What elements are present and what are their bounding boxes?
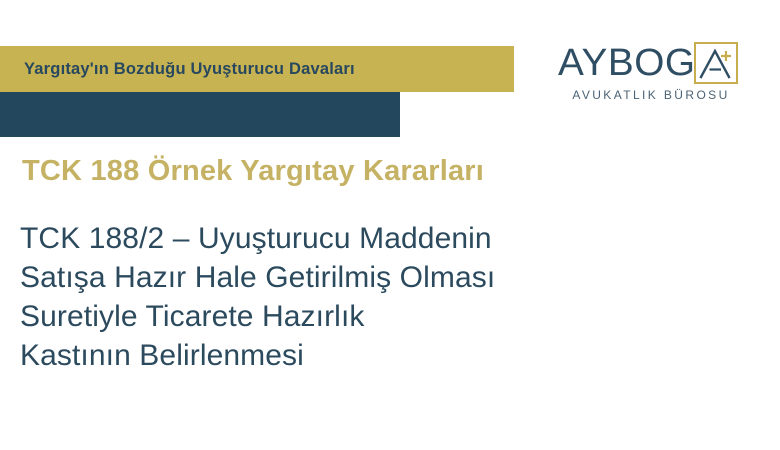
body-line: Suretiyle Ticarete Hazırlık <box>20 297 640 336</box>
logo-subtitle: AVUKATLIK BÜROSU <box>558 88 744 102</box>
body-line: TCK 188/2 – Uyuşturucu Maddenin <box>20 219 640 258</box>
banner-tag-label: Yargıtay'ın Bozduğu Uyuşturucu Davaları <box>24 60 355 79</box>
logo-wordmark: AYBOG <box>558 42 696 84</box>
logo-mark: AYBOG <box>558 42 744 84</box>
logo-a-plus-badge-icon <box>694 42 738 84</box>
body-text-block: TCK 188/2 – Uyuşturucu Maddenin Satışa H… <box>20 219 640 375</box>
banner-gold-bar: Yargıtay'ın Bozduğu Uyuşturucu Davaları <box>0 46 514 92</box>
body-line: Satışa Hazır Hale Getirilmiş Olması <box>20 258 640 297</box>
banner-navy-bar <box>0 92 400 137</box>
body-line: Kastının Belirlenmesi <box>20 336 640 375</box>
brand-logo: AYBOG AVUKATLIK BÜROSU <box>558 42 744 108</box>
page-title: TCK 188 Örnek Yargıtay Kararları <box>22 155 484 188</box>
slide-canvas: Yargıtay'ın Bozduğu Uyuşturucu Davaları … <box>0 0 780 450</box>
